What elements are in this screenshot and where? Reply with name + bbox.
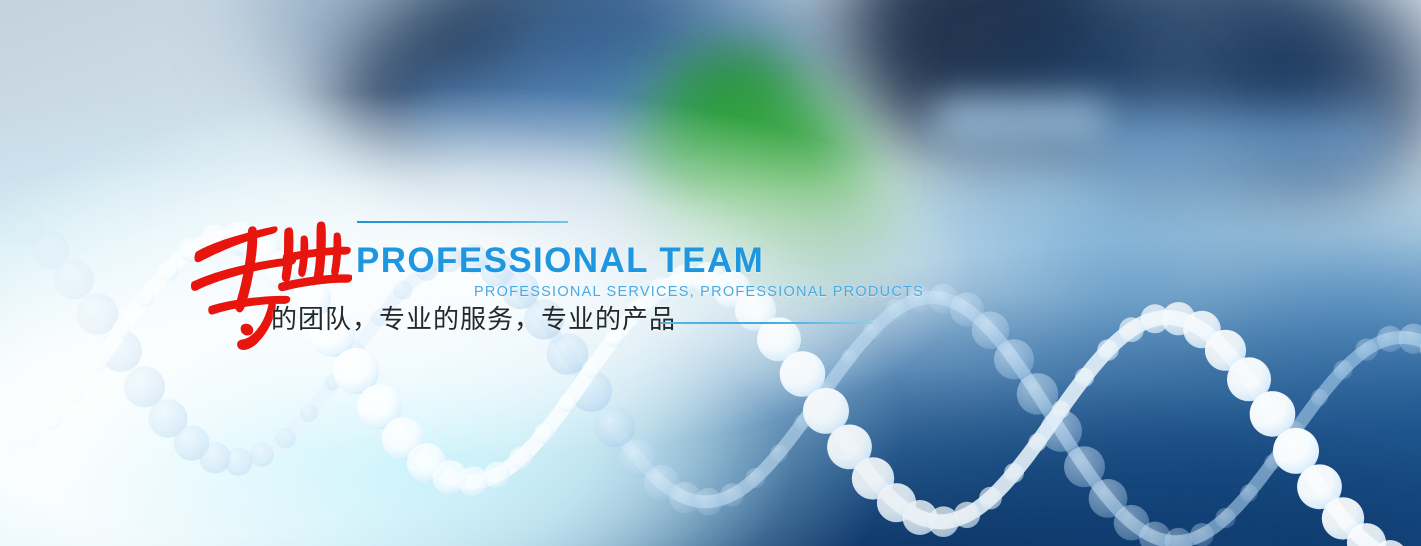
banner-chinese-tagline: 的团队，专业的服务，专业的产品: [271, 306, 676, 336]
hero-banner: PROFESSIONAL TEAM PROFESSIONAL SERVICES,…: [0, 0, 1421, 546]
decorative-rule-bottom: [661, 322, 873, 324]
page-title: PROFESSIONAL TEAM: [356, 243, 764, 278]
banner-subtitle: PROFESSIONAL SERVICES, PROFESSIONAL PROD…: [474, 285, 924, 300]
banner-text-block: PROFESSIONAL TEAM PROFESSIONAL SERVICES,…: [0, 0, 1421, 546]
decorative-rule-top: [357, 221, 568, 223]
